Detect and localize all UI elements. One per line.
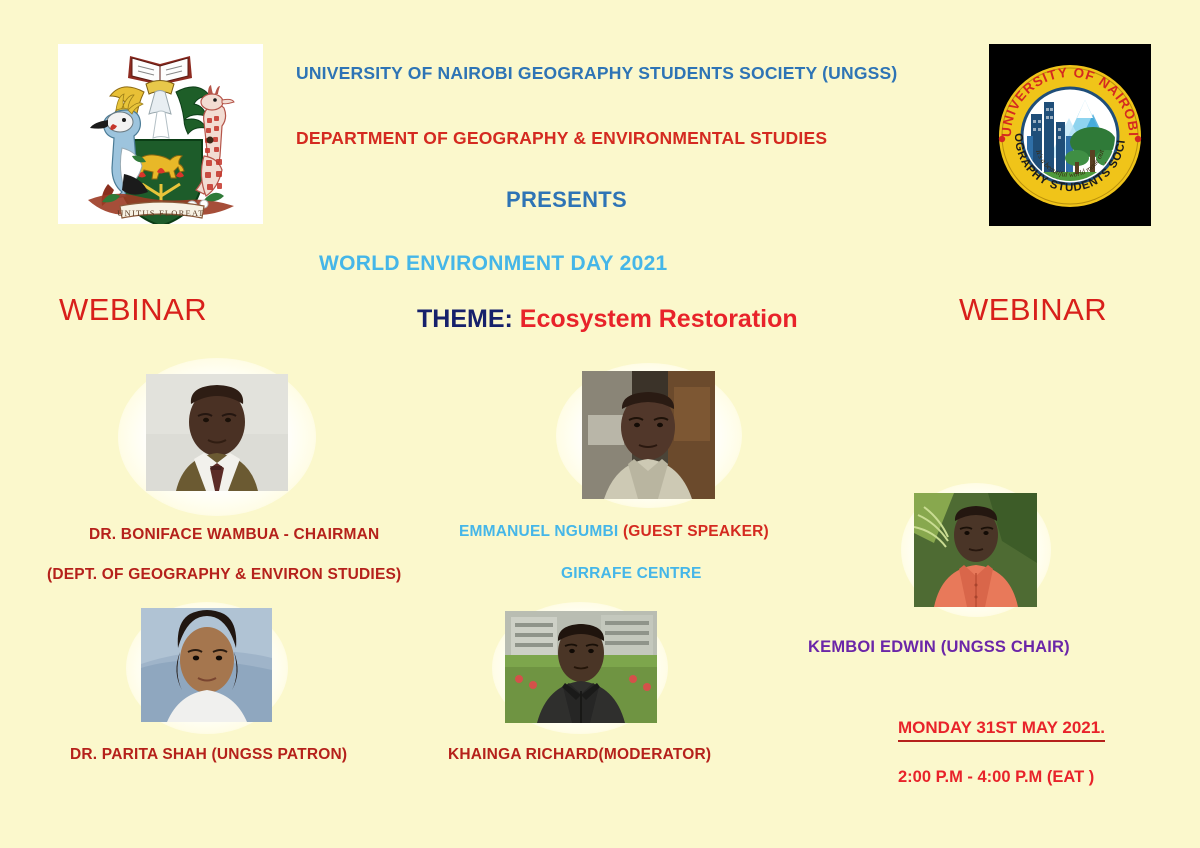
photo-image-guest-speaker [582, 371, 715, 499]
caption-guest-speaker: EMMANUEL NGUMBI (GUEST SPEAKER) [459, 523, 769, 541]
photo-patron [126, 602, 288, 734]
caption-guest-speaker-role: (GUEST SPEAKER) [623, 523, 769, 540]
presents-label: PRESENTS [506, 187, 627, 213]
caption-chairman-line1: DR. BONIFACE WAMBUA - CHAIRMAN [89, 526, 379, 544]
caption-patron: DR. PARITA SHAH (UNGSS PATRON) [70, 746, 347, 764]
photo-moderator [492, 602, 668, 734]
theme-label: THEME: [417, 305, 513, 333]
ungss-circular-icon: It's a beautiful world made out UNIVERSI… [989, 44, 1151, 226]
caption-chairman-line2: (DEPT. OF GEOGRAPHY & ENVIRON STUDIES) [47, 566, 401, 584]
webinar-label-left: WEBINAR [59, 292, 207, 328]
society-title: UNIVERSITY OF NAIROBI GEOGRAPHY STUDENTS… [296, 63, 897, 84]
photo-image-moderator [505, 611, 657, 723]
event-date: MONDAY 31ST MAY 2021. [898, 718, 1105, 742]
university-of-nairobi-coat-of-arms-logo: UNITUS FLOREAT [58, 44, 263, 224]
photo-image-chairman [146, 374, 288, 491]
caption-moderator: KHAINGA RICHARD(MODERATOR) [448, 746, 711, 764]
webinar-poster: UNITUS FLOREAT [0, 0, 1200, 848]
caption-guest-speaker-name: EMMANUEL NGUMBI [459, 523, 623, 540]
coat-of-arms-motto: UNITUS FLOREAT [117, 208, 204, 218]
photo-chairman [118, 358, 316, 516]
theme-line: THEME: Ecosystem Restoration [417, 305, 798, 334]
photo-image-patron [141, 608, 272, 722]
coat-of-arms-icon: UNITUS FLOREAT [58, 44, 263, 224]
ungss-emblem-logo: It's a beautiful world made out UNIVERSI… [989, 44, 1151, 226]
department-title: DEPARTMENT OF GEOGRAPHY & ENVIRONMENTAL … [296, 128, 827, 149]
event-time: 2:00 P.M - 4:00 P.M (EAT ) [898, 768, 1094, 787]
photo-image-ungss-chair [914, 493, 1037, 607]
photo-guest-speaker [556, 363, 742, 508]
caption-ungss-chair: KEMBOI EDWIN (UNGSS CHAIR) [808, 638, 1070, 657]
theme-value: Ecosystem Restoration [520, 305, 798, 333]
caption-guest-speaker-org: GIRRAFE CENTRE [561, 565, 702, 583]
webinar-label-right: WEBINAR [959, 292, 1107, 328]
photo-ungss-chair [901, 483, 1051, 617]
event-title: WORLD ENVIRONMENT DAY 2021 [319, 252, 668, 276]
